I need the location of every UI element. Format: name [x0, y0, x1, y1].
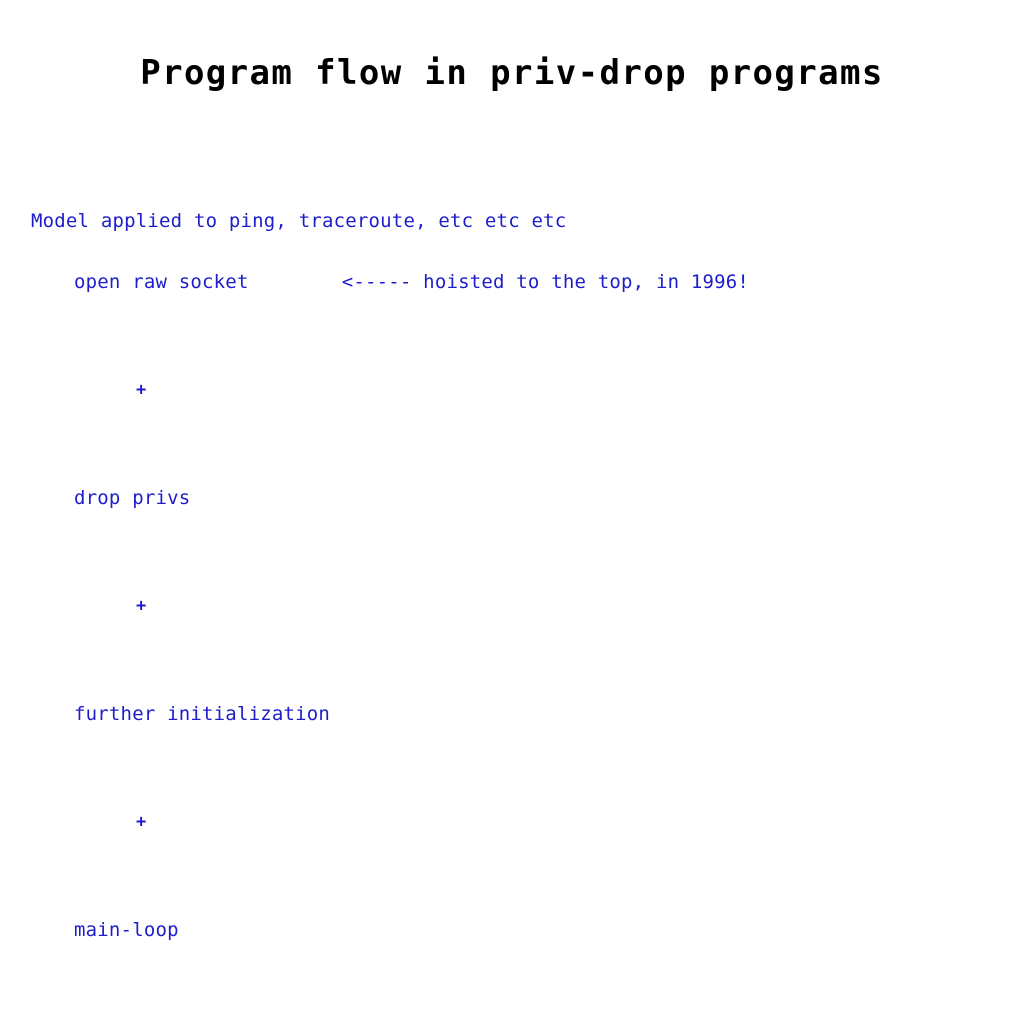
flow-step-label-2: drop privs: [74, 487, 190, 509]
program-flow-list: open raw socket <----- hoisted to the to…: [74, 187, 749, 1025]
list-item: open raw socket <----- hoisted to the to…: [74, 268, 749, 296]
list-item: main-loop: [74, 916, 749, 944]
flow-step-label-4: main-loop: [74, 919, 179, 941]
slide-body: Model applied to ping, traceroute, etc e…: [31, 127, 566, 343]
flow-connector-1: +: [74, 377, 749, 403]
list-item: further initialization: [74, 700, 749, 728]
slide-canvas: Program flow in priv-drop programs Model…: [0, 0, 1024, 768]
flow-step-label-3: further initialization: [74, 703, 330, 725]
flow-step-annotation-1: <----- hoisted to the top, in 1996!: [249, 271, 749, 293]
list-item: drop privs: [74, 484, 749, 512]
flow-connector-2: +: [74, 593, 749, 619]
flow-connector-3: +: [74, 809, 749, 835]
flow-step-label-1: open raw socket: [74, 271, 249, 293]
page-title: Program flow in priv-drop programs: [0, 51, 1024, 95]
